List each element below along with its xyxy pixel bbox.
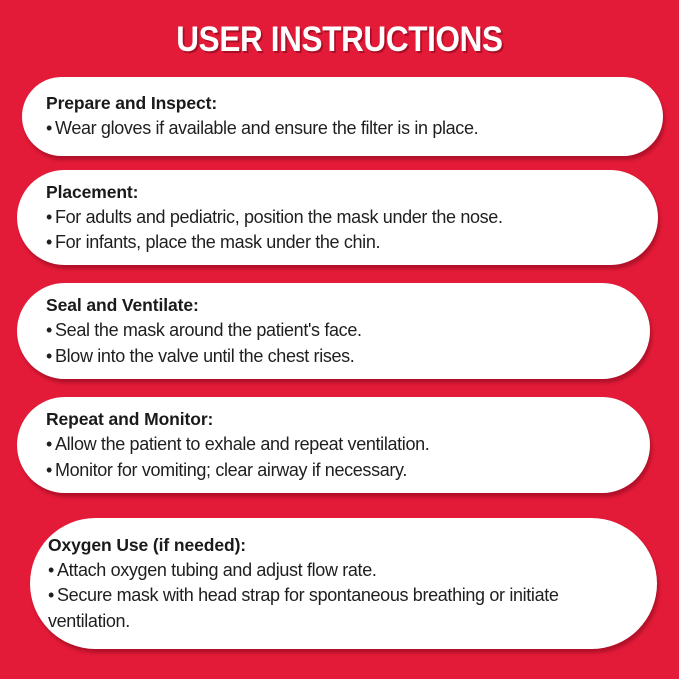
card-heading: Placement: — [46, 180, 636, 205]
bullet-icon: • — [46, 458, 55, 484]
card-heading: Oxygen Use (if needed): — [48, 533, 635, 558]
card-body: Placement: •For adults and pediatric, po… — [17, 180, 658, 256]
card-heading: Seal and Ventilate: — [46, 293, 628, 318]
card-bullet-line: •Monitor for vomiting; clear airway if n… — [46, 458, 628, 484]
card-bullet-text: Monitor for vomiting; clear airway if ne… — [55, 460, 407, 480]
card-bullet-text: For infants, place the mask under the ch… — [55, 232, 380, 252]
card-bullet-line: •For adults and pediatric, position the … — [46, 205, 636, 231]
card-body: Oxygen Use (if needed): •Attach oxygen t… — [30, 533, 657, 635]
card-body: Repeat and Monitor: •Allow the patient t… — [17, 407, 650, 483]
bullet-icon: • — [46, 318, 55, 344]
card-bullet-text: Seal the mask around the patient's face. — [55, 320, 362, 340]
card-bullet-line: •Attach oxygen tubing and adjust flow ra… — [48, 558, 635, 584]
card-bullet-text: Blow into the valve until the chest rise… — [55, 346, 354, 366]
bullet-icon: • — [46, 344, 55, 370]
card-bullet-text: Attach oxygen tubing and adjust flow rat… — [57, 560, 377, 580]
bullet-icon: • — [46, 116, 55, 142]
bullet-icon: • — [48, 558, 57, 584]
card-body: Prepare and Inspect: •Wear gloves if ava… — [22, 91, 663, 142]
card-body: Seal and Ventilate: •Seal the mask aroun… — [17, 293, 650, 369]
instruction-card: Seal and Ventilate: •Seal the mask aroun… — [17, 283, 650, 379]
instructions-poster: USER INSTRUCTIONS Prepare and Inspect: •… — [0, 0, 679, 679]
bullet-icon: • — [46, 432, 55, 458]
card-bullet-text: Secure mask with head strap for spontane… — [48, 585, 559, 631]
card-bullet-line: •For infants, place the mask under the c… — [46, 230, 636, 256]
card-bullet-line: •Allow the patient to exhale and repeat … — [46, 432, 628, 458]
instruction-card: Placement: •For adults and pediatric, po… — [17, 170, 658, 265]
bullet-icon: • — [46, 205, 55, 231]
card-bullet-line: •Wear gloves if available and ensure the… — [46, 116, 641, 142]
card-bullet-text: Allow the patient to exhale and repeat v… — [55, 434, 429, 454]
card-heading: Repeat and Monitor: — [46, 407, 628, 432]
instruction-card: Prepare and Inspect: •Wear gloves if ava… — [22, 77, 663, 156]
page-title: USER INSTRUCTIONS — [34, 18, 645, 62]
card-bullet-line: •Seal the mask around the patient's face… — [46, 318, 628, 344]
bullet-icon: • — [46, 230, 55, 256]
card-bullet-line: •Blow into the valve until the chest ris… — [46, 344, 628, 370]
card-heading: Prepare and Inspect: — [46, 91, 641, 116]
card-bullet-text: For adults and pediatric, position the m… — [55, 207, 503, 227]
card-bullet-line: •Secure mask with head strap for spontan… — [48, 583, 635, 634]
card-bullet-text: Wear gloves if available and ensure the … — [55, 118, 478, 138]
instruction-card: Oxygen Use (if needed): •Attach oxygen t… — [30, 518, 657, 649]
instruction-card: Repeat and Monitor: •Allow the patient t… — [17, 397, 650, 493]
bullet-icon: • — [48, 583, 57, 609]
